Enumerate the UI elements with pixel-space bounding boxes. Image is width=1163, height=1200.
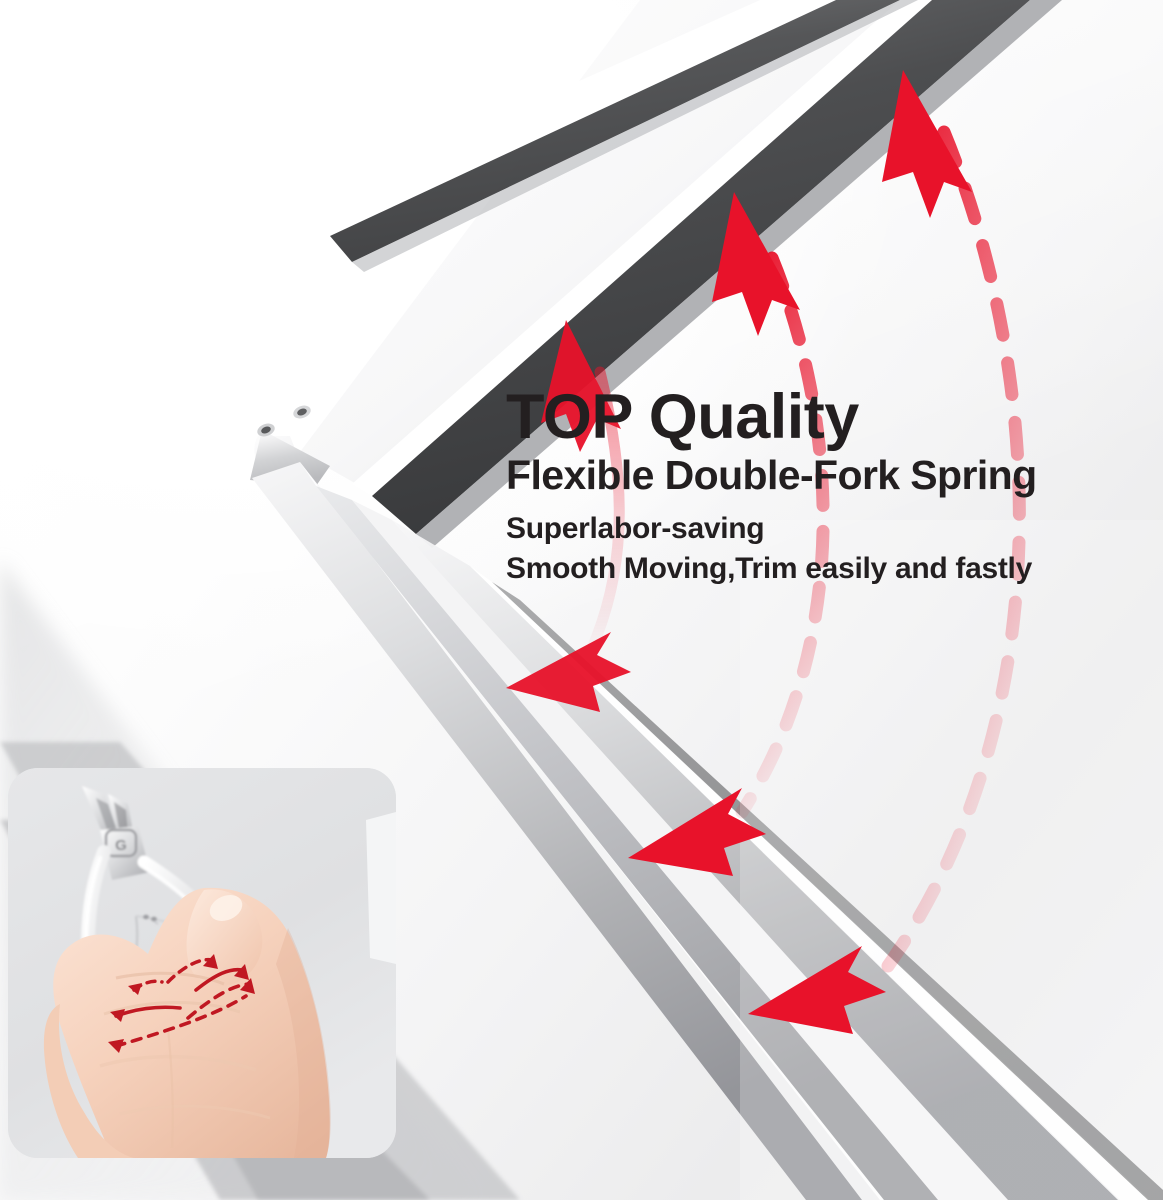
marketing-copy-block: TOP Quality Flexible Double-Fork Spring … [506, 386, 1126, 588]
hand-grip-demo-inset: G [8, 768, 396, 1158]
inset-brand-mark: G [115, 837, 127, 854]
feature-bullet-1: Superlabor-saving [506, 509, 1126, 549]
subheadline: Flexible Double-Fork Spring [506, 453, 1126, 499]
feature-bullet-2: Smooth Moving,Trim easily and fastly [506, 549, 1126, 589]
page-title: TOP Quality [506, 386, 1126, 449]
product-image-canvas: TOP Quality Flexible Double-Fork Spring … [0, 0, 1163, 1200]
hand-grip-demo-photo: G [8, 768, 396, 1158]
